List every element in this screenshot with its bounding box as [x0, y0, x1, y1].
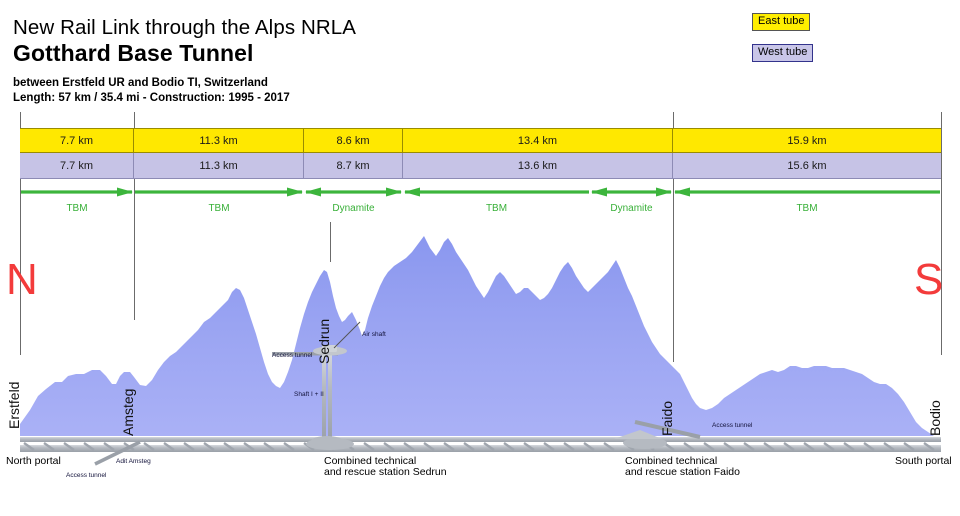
mountain-profile-path	[20, 236, 941, 436]
station-label-amsteg: Amsteg	[120, 389, 136, 436]
terrain-profile-graphic	[0, 0, 960, 516]
tunnel-tube-lower	[20, 445, 941, 452]
sedrun-station-label-line2: and rescue station Sedrun	[324, 466, 447, 478]
station-label-faido: Faido	[659, 401, 675, 436]
north-portal-label: North portal	[6, 455, 61, 467]
infographic-root: New Rail Link through the Alps NRLA Gott…	[0, 0, 960, 516]
station-label-sedrun: Sedrun	[316, 319, 332, 364]
station-label-bodio: Bodio	[927, 400, 943, 436]
station-label-erstfeld: Erstfeld	[6, 382, 22, 429]
faido-station-label-line2: and rescue station Faido	[625, 466, 740, 478]
faido-access-tunnel-label: Access tunnel	[712, 422, 752, 429]
sedrun-station-bulge	[306, 438, 354, 450]
south-portal-label: South portal	[895, 455, 952, 467]
shaft-label: Shaft I + II	[294, 391, 324, 398]
amsteg-access-tunnel-label: Access tunnel	[66, 472, 106, 479]
tunnel-tube-upper	[20, 437, 941, 442]
sedrun-access-tunnel-label: Access tunnel	[272, 352, 312, 359]
air-shaft-label: Air shaft	[362, 331, 386, 338]
sedrun-shaft-2	[328, 352, 332, 442]
adit-amsteg-label: Adit Amsteg	[116, 458, 151, 465]
